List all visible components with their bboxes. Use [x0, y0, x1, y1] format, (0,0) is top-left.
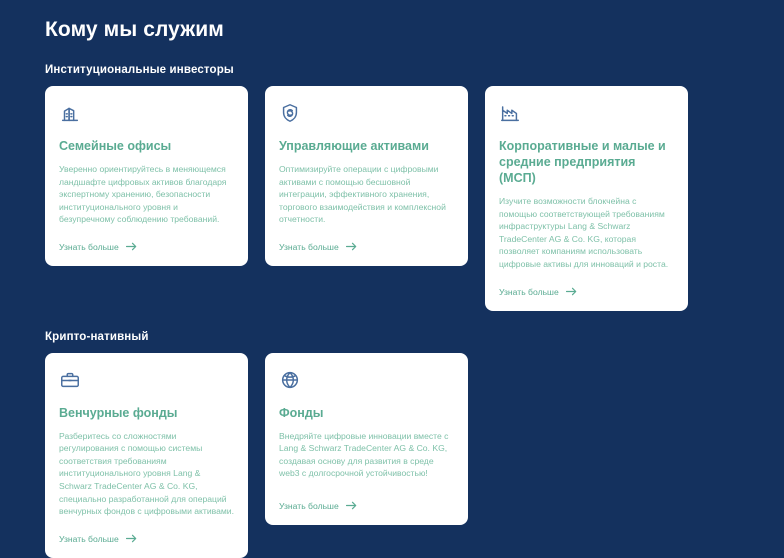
card-body: Разберитесь со сложностями регулирования… [59, 430, 234, 518]
learn-more-label: Узнать больше [499, 287, 559, 297]
card-funds[interactable]: Фонды Внедряйте цифровые инновации вмест… [265, 353, 468, 525]
learn-more-label: Узнать больше [279, 501, 339, 511]
card-family-offices[interactable]: Семейные офисы Уверенно ориентируйтесь в… [45, 86, 248, 266]
section-label-institutional: Институциональные инвесторы [45, 44, 739, 86]
card-title: Управляющие активами [279, 138, 454, 154]
learn-more-label: Узнать больше [279, 242, 339, 252]
arrow-right-icon [346, 242, 357, 251]
page-title: Кому мы служим [45, 0, 739, 44]
arrow-right-icon [346, 501, 357, 510]
card-asset-managers[interactable]: Управляющие активами Оптимизируйте опера… [265, 86, 468, 266]
card-body: Уверенно ориентируйтесь в меняющемся лан… [59, 163, 234, 226]
who-we-serve-page: Кому мы служим Институциональные инвесто… [0, 0, 784, 482]
card-title: Корпоративные и малые и средние предприя… [499, 138, 674, 186]
learn-more-label: Узнать больше [59, 242, 119, 252]
section-label-crypto-native: Крипто-нативный [45, 311, 739, 353]
bank-building-icon [59, 102, 81, 124]
card-body: Изучите возможности блокчейна с помощью … [499, 195, 674, 271]
card-body: Внедряйте цифровые инновации вместе с La… [279, 430, 454, 480]
card-title: Венчурные фонды [59, 405, 234, 421]
card-title: Семейные офисы [59, 138, 234, 154]
factory-icon [499, 102, 521, 124]
briefcase-icon [59, 369, 81, 391]
arrow-right-icon [126, 242, 137, 251]
learn-more-label: Узнать больше [59, 534, 119, 544]
shield-icon [279, 102, 301, 124]
globe-network-icon [279, 369, 301, 391]
arrow-right-icon [566, 287, 577, 296]
learn-more-link[interactable]: Узнать больше [59, 226, 234, 252]
card-row-institutional: Семейные офисы Уверенно ориентируйтесь в… [45, 86, 739, 311]
card-corporates-smes[interactable]: Корпоративные и малые и средние предприя… [485, 86, 688, 311]
learn-more-link[interactable]: Узнать больше [279, 485, 454, 511]
arrow-right-icon [126, 534, 137, 543]
card-body: Оптимизируйте операции с цифровыми актив… [279, 163, 454, 226]
learn-more-link[interactable]: Узнать больше [279, 226, 454, 252]
card-row-crypto-native: Венчурные фонды Разберитесь со сложностя… [45, 353, 739, 558]
card-venture-funds[interactable]: Венчурные фонды Разберитесь со сложностя… [45, 353, 248, 558]
learn-more-link[interactable]: Узнать больше [59, 518, 234, 544]
learn-more-link[interactable]: Узнать больше [499, 271, 674, 297]
card-title: Фонды [279, 405, 454, 421]
